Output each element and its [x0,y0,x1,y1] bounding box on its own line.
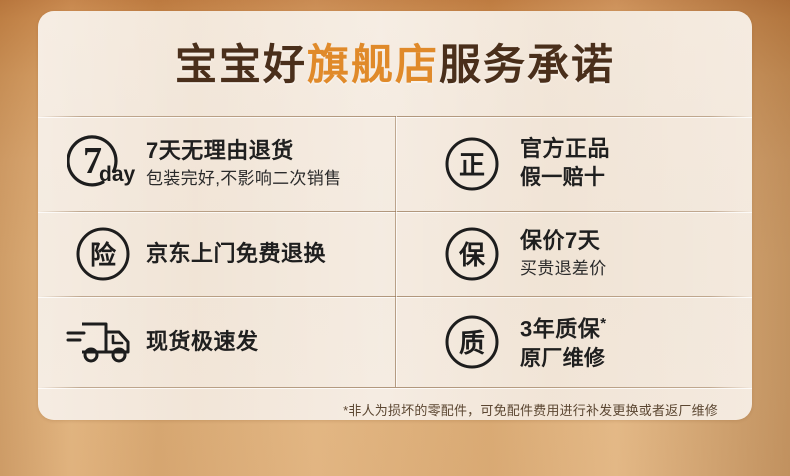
title-part-2: 服务承诺 [439,41,615,88]
page-title: 宝宝好旗舰店服务承诺 [38,39,752,91]
promise-item-price-protection: 保 保价7天 买贵退差价 [428,211,748,296]
zhi-circle-icon: 质 [428,311,516,373]
promise-title: 官方正品 [520,135,610,163]
bao-char: 保 [459,235,485,272]
promo-banner: 宝宝好旗舰店服务承诺 7 day 7天无理由退货 [0,0,790,476]
promise-title-text: 3年质保 [520,317,600,342]
seven-day-unit: day [99,163,135,187]
bao-circle-icon: 保 [428,223,516,285]
promise-item-authentic: 正 官方正品 假一赔十 [428,116,748,211]
title-highlight: 旗舰店 [307,41,439,88]
promise-item-warranty: 质 3年质保* 原厂维修 [428,296,748,387]
promise-text: 现货极速发 [142,328,259,356]
zheng-circle-icon: 正 [428,133,516,195]
xian-circle-icon: 险 [64,223,142,285]
seven-day-circle-icon: 7 day [64,133,142,195]
promise-title: 现货极速发 [146,328,259,356]
promise-item-fast-shipping: 现货极速发 [64,296,394,387]
footnote-marker: * [600,315,606,332]
promise-text: 保价7天 买贵退差价 [516,227,607,281]
promise-subtitle: 原厂维修 [520,344,607,373]
footnote-text: *非人为损坏的零配件，可免配件费用进行补发更换或者返厂维修 [38,399,718,420]
promise-subtitle: 假一赔十 [520,163,610,192]
promise-text: 京东上门免费退换 [142,240,326,268]
promise-item-free-exchange: 险 京东上门免费退换 [64,211,394,296]
xian-char: 险 [90,235,116,272]
promise-title: 3年质保* [520,310,607,343]
zheng-char: 正 [459,145,485,182]
zhi-char: 质 [459,323,485,360]
promise-text: 官方正品 假一赔十 [516,135,610,192]
promise-grid: 7 day 7天无理由退货 包装完好,不影响二次销售 险 京东上门 [38,116,752,387]
promise-title: 保价7天 [520,227,607,255]
delivery-truck-icon [64,311,142,373]
promise-item-return-7day: 7 day 7天无理由退货 包装完好,不影响二次销售 [64,116,394,211]
promise-title: 京东上门免费退换 [146,240,326,268]
service-promise-card: 宝宝好旗舰店服务承诺 7 day 7天无理由退货 [38,11,752,420]
divider-horizontal-4 [38,387,752,388]
promise-text: 3年质保* 原厂维修 [516,310,607,372]
promise-text: 7天无理由退货 包装完好,不影响二次销售 [142,137,341,191]
promise-title: 7天无理由退货 [146,137,341,165]
promise-subtitle: 买贵退差价 [520,257,607,281]
promise-subtitle: 包装完好,不影响二次销售 [146,167,341,191]
title-part-1: 宝宝好 [175,41,307,88]
